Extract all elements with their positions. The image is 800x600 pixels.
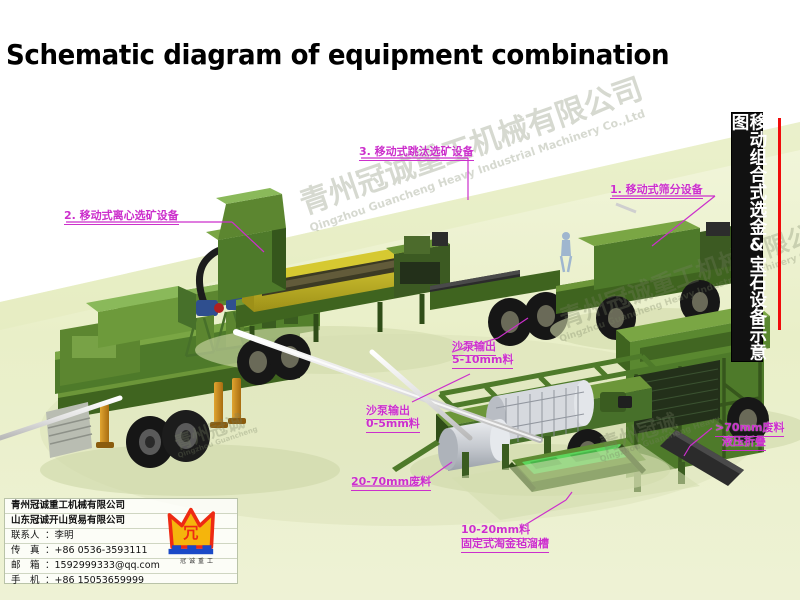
contact-colon-3: ： — [45, 561, 55, 571]
vertical-banner-text: 移动组合式选金&宝石设备示意图 — [729, 113, 765, 361]
callout-label-text: 3. 移动式跳汰选矿设备 — [359, 145, 474, 161]
callout-label-sluice-l2: 固定式淘金毡溜槽 — [461, 537, 549, 553]
mobile-value: +86 15053659999 — [55, 576, 145, 586]
contact-colon-1: ： — [45, 531, 55, 541]
callout-label-waste-20-70: 20-70mm废料 — [351, 475, 431, 491]
callout-label-text: 5-10mm料 — [452, 353, 513, 369]
crown-icon: 冗 — [163, 506, 233, 556]
callout-label-text: 2. 移动式离心选矿设备 — [64, 209, 179, 225]
callout-label-text: 20-70mm废料 — [351, 475, 431, 491]
company-logo: 冗 冠诚重工 — [163, 506, 233, 572]
callout-label-equip-3: 3. 移动式跳汰选矿设备 — [359, 145, 474, 161]
callout-label-text: 液压折叠 — [722, 435, 766, 451]
fax-value: +86 0536-3593111 — [55, 546, 148, 556]
contact-colon-2: ： — [45, 546, 55, 556]
callout-label-waste-70-l2: 液压折叠 — [722, 435, 766, 451]
callout-label-equip-2: 2. 移动式离心选矿设备 — [64, 209, 179, 225]
callout-label-text: 固定式淘金毡溜槽 — [461, 537, 549, 553]
callout-label-text: 1. 移动式筛分设备 — [610, 183, 703, 199]
contact-colon-4: ： — [45, 576, 55, 586]
page-title: Schematic diagram of equipment combinati… — [6, 38, 669, 71]
callout-label-text: 0-5mm料 — [366, 417, 420, 433]
svg-text:冗: 冗 — [183, 524, 198, 542]
callout-label-pump-0-5-l2: 0-5mm料 — [366, 417, 420, 433]
diagram-canvas: 青州冠诚重工机械有限公司Qingzhou Guancheng Heavy Ind… — [0, 0, 800, 600]
mobile-row: 手 机 ： +86 15053659999 — [5, 574, 237, 588]
logo-caption: 冠诚重工 — [165, 556, 231, 565]
mobile-label: 手 机 — [11, 576, 45, 586]
callout-label-pump-5-10-l2: 5-10mm料 — [452, 353, 513, 369]
vertical-banner: 移动组合式选金&宝石设备示意图 — [731, 112, 763, 362]
red-accent-bar — [778, 118, 781, 330]
email-label: 邮 箱 — [11, 561, 45, 571]
contact-person-label: 联系人 — [11, 531, 45, 541]
callout-label-equip-1: 1. 移动式筛分设备 — [610, 183, 703, 199]
contact-person-value: 李明 — [55, 531, 74, 541]
fax-label: 传 真 — [11, 546, 45, 556]
email-value: 1592999333@qq.com — [55, 561, 160, 571]
